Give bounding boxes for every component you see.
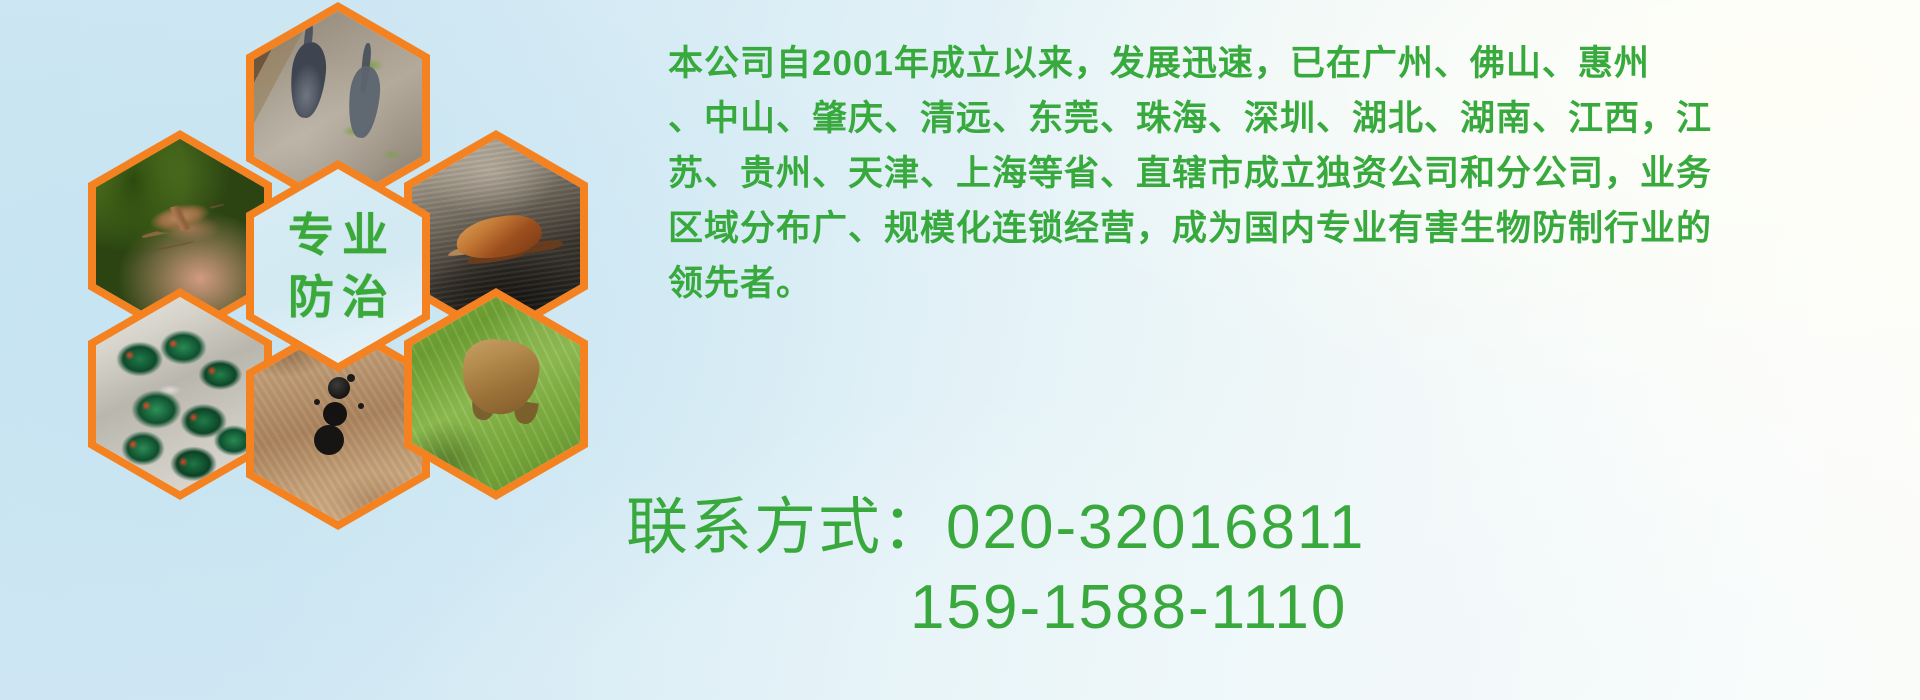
intro-line-1: 本公司自2001年成立以来，发展迅速，已在广州、佛山、惠州 [668,36,1900,91]
hex-tile-center-label: 专业 防治 [246,160,430,372]
contact-phone-landline[interactable]: 联系方式：020-32016811 [626,488,1916,568]
flies-photo [96,297,264,491]
company-intro-paragraph: 本公司自2001年成立以来，发展迅速，已在广州、佛山、惠州 、中山、肇庆、清远、… [668,36,1900,311]
intro-line-3: 苏、贵州、天津、上海等省、直辖市成立独资公司和分公司，业务 [668,146,1900,201]
intro-line-5: 领先者。 [668,256,1900,311]
center-label-line2: 防治 [280,274,396,320]
hex-tile-stinkbug[interactable] [404,288,588,500]
contact-phone-mobile[interactable]: 159-1588-1110 [626,568,1916,648]
stinkbug-photo [412,297,580,491]
intro-line-4: 区域分布广、规模化连锁经营，成为国内专业有害生物防制行业的 [668,201,1900,256]
hex-inner [412,297,580,491]
intro-line-2: 、中山、肇庆、清远、东莞、珠海、深圳、湖北、湖南、江西，江 [668,91,1900,146]
hex-tile-flies[interactable] [88,288,272,500]
hex-inner: 专业 防治 [254,169,422,363]
hexagon-cluster: 专业 防治 [88,0,588,567]
center-label-line1: 专业 [280,212,396,258]
hex-inner [96,297,264,491]
contact-block: 联系方式：020-32016811 159-1588-1110 [626,488,1916,648]
